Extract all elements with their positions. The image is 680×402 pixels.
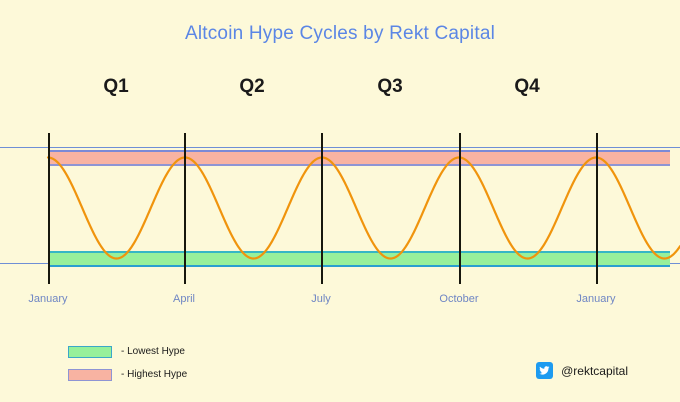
lowest-hype-band	[48, 251, 670, 267]
x-tick-label-january-2: January	[551, 293, 641, 305]
red-swatch-icon	[68, 369, 112, 381]
legend-item-highest-hype: - Highest Hype	[68, 366, 187, 383]
green-swatch-icon	[68, 346, 112, 358]
divider-line-july	[321, 133, 323, 284]
x-tick-label-january-1: January	[3, 293, 93, 305]
upper-guide-line	[0, 147, 680, 148]
divider-line-january-1	[48, 133, 50, 284]
x-tick-label-april: April	[139, 293, 229, 305]
highest-hype-band	[48, 150, 670, 166]
hype-cycle-wave	[0, 0, 680, 402]
chart-root: Altcoin Hype Cycles by Rekt Capital Q1 Q…	[0, 0, 680, 402]
legend-label-lowest-hype: - Lowest Hype	[121, 346, 185, 357]
plot-area: January April July October January	[0, 0, 680, 402]
legend: - Lowest Hype - Highest Hype	[68, 343, 187, 389]
x-tick-label-october: October	[414, 293, 504, 305]
legend-label-highest-hype: - Highest Hype	[121, 369, 187, 380]
divider-line-april	[184, 133, 186, 284]
divider-line-october	[459, 133, 461, 284]
x-tick-label-july: July	[276, 293, 366, 305]
divider-line-january-2	[596, 133, 598, 284]
credit-handle: @rektcapital	[561, 364, 628, 378]
twitter-icon	[536, 362, 553, 379]
credit: @rektcapital	[536, 362, 628, 379]
legend-item-lowest-hype: - Lowest Hype	[68, 343, 187, 360]
